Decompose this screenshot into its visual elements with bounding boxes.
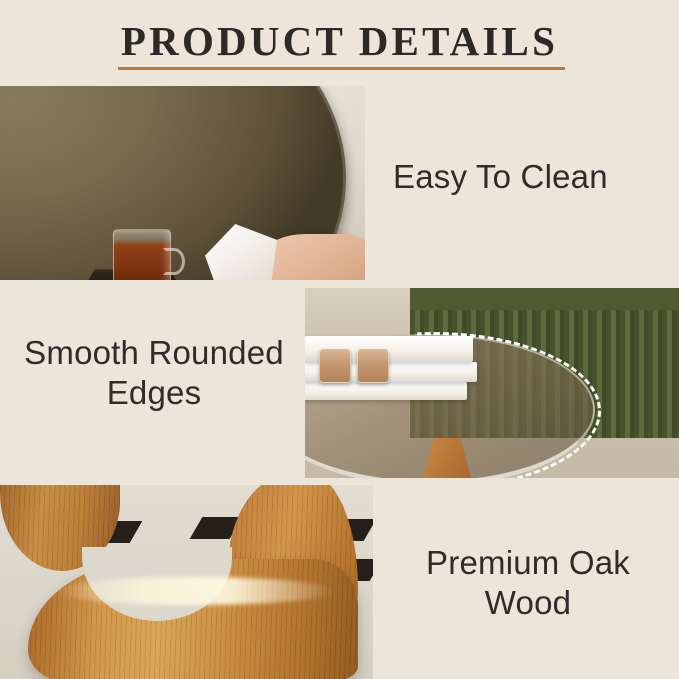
caption-line: Edges	[10, 373, 298, 413]
caption-line: Wood	[392, 583, 664, 623]
feature-image-smooth-rounded-edges	[305, 288, 679, 478]
caption-line: Premium Oak	[392, 543, 664, 583]
caption-line: Easy To Clean	[393, 158, 608, 195]
feature-image-easy-to-clean	[0, 86, 365, 280]
book	[305, 382, 467, 400]
stacked-books	[305, 336, 477, 464]
wood-light-reflection	[56, 577, 336, 605]
mug-handle	[163, 248, 185, 275]
feature-caption-premium-oak-wood: Premium Oak Wood	[392, 543, 664, 624]
caption-line: Smooth Rounded	[10, 333, 298, 373]
candle-jar	[357, 349, 389, 383]
page-title: PRODUCT DETAILS	[0, 21, 679, 62]
title-underline-rule	[118, 67, 565, 70]
sofa-backrest	[410, 288, 679, 310]
feature-caption-smooth-rounded-edges: Smooth Rounded Edges	[10, 333, 298, 414]
infographic-page: PRODUCT DETAILS Easy To Clean Smooth Rou…	[0, 0, 679, 679]
header: PRODUCT DETAILS	[0, 0, 679, 86]
feature-image-premium-oak-wood	[0, 485, 373, 679]
glass-tea-mug	[113, 229, 176, 280]
feature-caption-easy-to-clean: Easy To Clean	[393, 157, 671, 197]
candle-jar	[319, 349, 351, 383]
